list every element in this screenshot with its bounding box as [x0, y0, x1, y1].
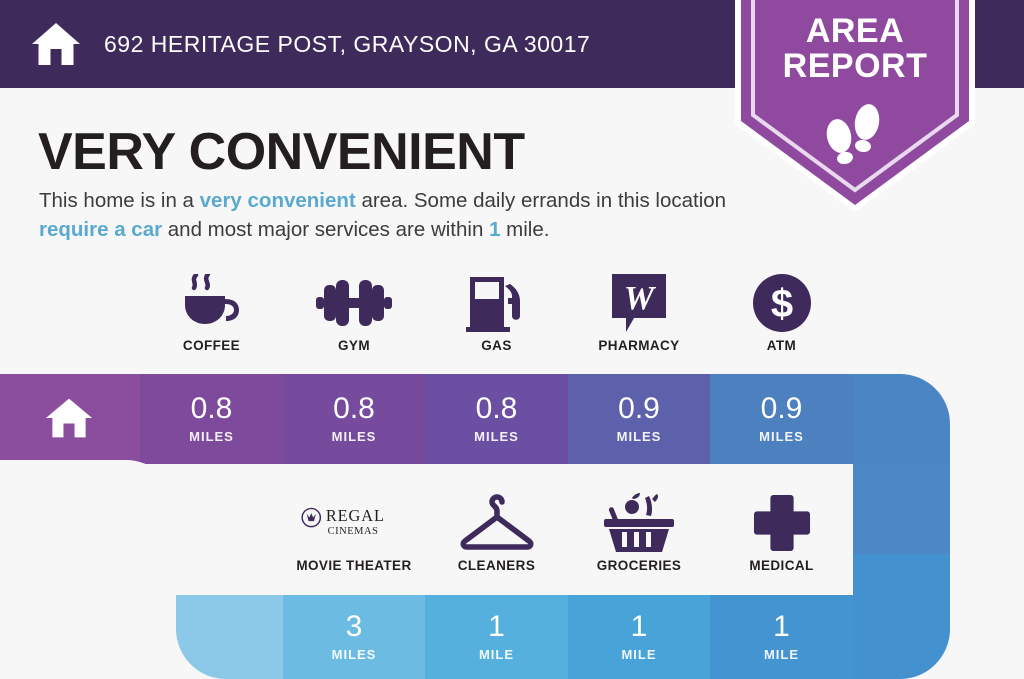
amenity-icon-row-1: COFFEE GYM: [0, 272, 1024, 368]
summary-part-4: mile.: [500, 218, 549, 241]
dist-cell-movie: [283, 595, 425, 679]
dist-cell-medical: [710, 595, 853, 679]
dist-cell-pharmacy: [568, 374, 710, 464]
amenity-gas: GAS: [425, 272, 568, 368]
amenity-label: GAS: [481, 338, 511, 353]
dist-cell-coffee: [140, 374, 283, 464]
amenity-label: PHARMACY: [598, 338, 679, 353]
gas-pump-icon: [466, 272, 528, 334]
badge-line-1: AREA: [735, 14, 975, 49]
home-icon: [30, 18, 82, 70]
amenity-coffee: COFFEE: [140, 272, 283, 368]
header-content: 692 HERITAGE POST, GRAYSON, GA 30017: [30, 0, 590, 88]
page-title: VERY CONVENIENT: [38, 122, 525, 182]
amenity-atm: $ ATM: [710, 272, 853, 368]
area-report-badge: AREA REPORT: [735, 0, 975, 212]
summary-highlight-3: 1: [489, 218, 500, 241]
svg-text:$: $: [770, 282, 792, 326]
summary-part-2: area. Some daily errands in this locatio…: [356, 189, 726, 212]
amenity-label: GYM: [338, 338, 370, 353]
dist-bar-turn-bottom: [0, 595, 283, 679]
summary-part-1: This home is in a: [39, 189, 200, 212]
summary-highlight-1: very convenient: [200, 189, 356, 212]
amenity-label: ATM: [767, 338, 796, 353]
property-address: 692 HERITAGE POST, GRAYSON, GA 30017: [104, 31, 590, 58]
coffee-cup-icon: [180, 272, 244, 334]
dumbbell-icon: [316, 272, 392, 334]
summary-part-3: and most major services are within: [162, 218, 489, 241]
dist-bar-turn-top: [853, 374, 1024, 464]
dist-cell-groceries: [568, 595, 710, 679]
walgreens-w-icon: W: [610, 272, 668, 334]
summary-highlight-2: require a car: [39, 218, 162, 241]
dist-bar-connector-upper: [853, 464, 1024, 554]
amenity-gym: GYM: [283, 272, 425, 368]
summary-text: This home is in a very convenient area. …: [39, 186, 729, 244]
badge-line-2: REPORT: [735, 49, 975, 84]
distance-bar: 0.8 MILES 0.8 MILES 0.8 MILES 0.9 MILES …: [0, 374, 1024, 679]
amenity-pharmacy: W PHARMACY: [568, 272, 710, 368]
dist-cell-atm: [710, 374, 853, 464]
home-icon: [45, 396, 89, 440]
badge-text: AREA REPORT: [735, 14, 975, 84]
dist-cell-cleaners: [425, 595, 568, 679]
dist-bar-connector-lower: [853, 554, 1024, 679]
dist-cell-gym: [283, 374, 425, 464]
amenity-label: COFFEE: [183, 338, 240, 353]
svg-text:W: W: [624, 280, 657, 317]
dollar-circle-icon: $: [752, 272, 812, 334]
dist-cell-gas: [425, 374, 568, 464]
